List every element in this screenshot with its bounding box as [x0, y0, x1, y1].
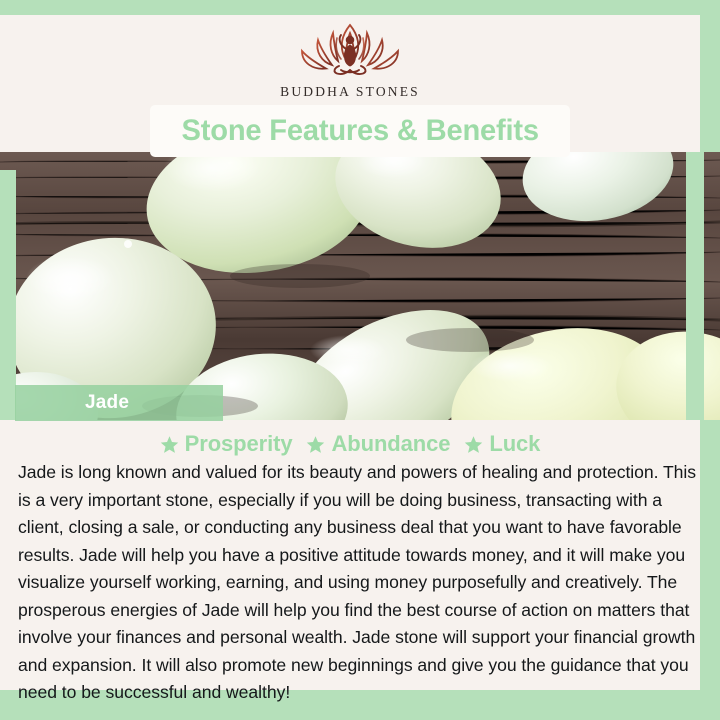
star-icon — [160, 435, 179, 454]
page-title: Stone Features & Benefits — [150, 105, 570, 157]
left-accent-strip — [0, 170, 16, 420]
benefit-label: Luck — [489, 431, 540, 457]
benefit-item: Prosperity — [160, 431, 293, 457]
benefit-label: Abundance — [331, 431, 450, 457]
stone-name-badge: Jade — [15, 385, 223, 421]
lotus-meditation-icon — [285, 18, 415, 80]
benefit-label: Prosperity — [185, 431, 293, 457]
right-accent-strip — [686, 152, 704, 420]
benefit-item: Abundance — [306, 431, 450, 457]
stone-description: Jade is long known and valued for its be… — [18, 459, 696, 707]
stone-name-label: Jade — [85, 392, 129, 414]
brand-header: BUDDHA STONES — [0, 18, 700, 100]
star-icon — [306, 435, 325, 454]
brand-name: BUDDHA STONES — [0, 84, 700, 100]
star-icon — [464, 435, 483, 454]
benefits-row: Prosperity Abundance Luck — [0, 431, 700, 457]
stone-photo — [0, 152, 720, 420]
infographic-page: BUDDHA STONES — [0, 0, 720, 720]
page-title-text: Stone Features & Benefits — [181, 114, 538, 148]
benefit-item: Luck — [464, 431, 540, 457]
